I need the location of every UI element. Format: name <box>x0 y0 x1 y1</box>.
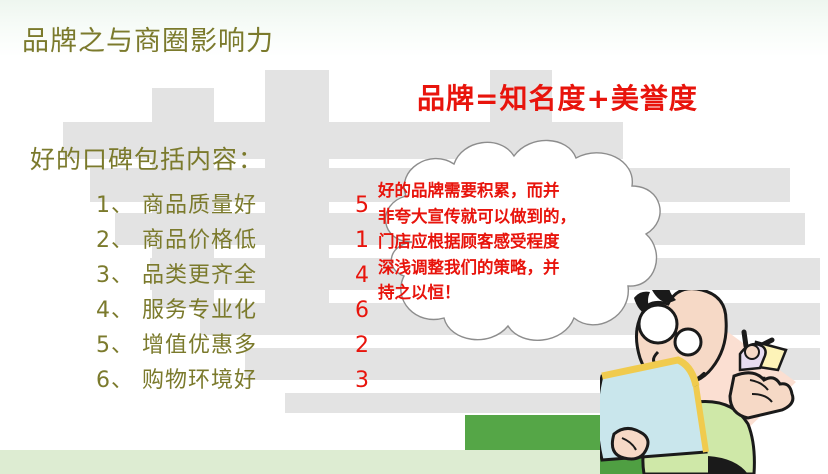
list-item-index: 2、 <box>96 223 142 258</box>
reputation-list: 1、商品质量好 2、商品价格低 3、品类更齐全 4、服务专业化 5、增值优惠多 … <box>96 188 396 398</box>
thought-cloud-note: 好的品牌需要积累，而并 非夸大宣传就可以做到的， 门店应根据顾客感受程度 深浅调… <box>378 178 634 306</box>
list-item: 1、商品质量好 <box>96 188 396 223</box>
cloud-note-line: 深浅调整我们的策略，并 <box>378 255 634 281</box>
cloud-note-line: 好的品牌需要积累，而并 <box>378 178 634 204</box>
list-item: 4、服务专业化 <box>96 293 396 328</box>
list-item-label: 服务专业化 <box>142 293 257 328</box>
list-item-label: 品类更齐全 <box>142 258 257 293</box>
list-item-index: 4、 <box>96 293 142 328</box>
cloud-note-line: 门店应根据顾客感受程度 <box>378 229 634 255</box>
list-item: 2、商品价格低 <box>96 223 396 258</box>
list-item: 3、品类更齐全 <box>96 258 396 293</box>
page-title: 品牌之与商圈影响力 <box>22 25 274 59</box>
list-item-index: 3、 <box>96 258 142 293</box>
slide-canvas: 品牌之与商圈影响力 品牌=知名度+美誉度 好的口碑包括内容： 1、商品质量好 2… <box>0 0 828 474</box>
list-item-index: 1、 <box>96 188 142 223</box>
man-reading-newspaper-icon <box>600 290 828 474</box>
reputation-list-heading: 好的口碑包括内容： <box>30 144 264 176</box>
cloud-note-line: 持之以恒！ <box>378 280 634 306</box>
list-item-index: 5、 <box>96 328 142 363</box>
green-footer-band <box>0 450 600 474</box>
rank-value: 2 <box>355 328 385 363</box>
cloud-note-line: 非夸大宣传就可以做到的， <box>378 204 634 230</box>
list-item-label: 增值优惠多 <box>142 328 257 363</box>
list-item: 6、购物环境好 <box>96 363 396 398</box>
rank-value: 3 <box>355 363 385 398</box>
list-item-label: 商品质量好 <box>142 188 257 223</box>
list-item-label: 购物环境好 <box>142 363 257 398</box>
brand-equation-headline: 品牌=知名度+美誉度 <box>417 82 698 116</box>
list-item-label: 商品价格低 <box>142 223 257 258</box>
list-item-index: 6、 <box>96 363 142 398</box>
list-item: 5、增值优惠多 <box>96 328 396 363</box>
